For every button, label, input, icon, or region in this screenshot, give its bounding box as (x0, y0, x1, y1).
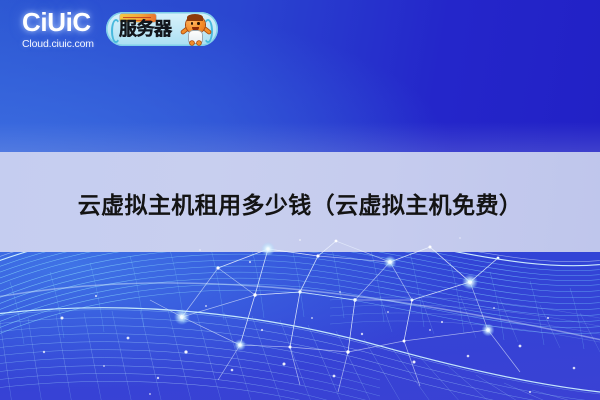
banner-image: CiUiC Cloud.ciuic.com 服务器 云虚拟主机租用多少钱（云虚拟… (0, 0, 600, 400)
wave-mesh-background (0, 252, 600, 400)
server-badge-label: 服务器 (119, 19, 172, 39)
ciuic-cloud-logo[interactable]: CiUiC Cloud.ciuic.com (22, 9, 118, 50)
title-band: 云虚拟主机租用多少钱（云虚拟主机免费） (0, 152, 600, 252)
orange-mascot-character-icon (181, 14, 211, 45)
page-title: 云虚拟主机租用多少钱（云虚拟主机免费） (78, 192, 523, 220)
logo-wordmark: CiUiC (22, 9, 118, 35)
logo-domain-text: Cloud.ciuic.com (22, 39, 118, 50)
server-badge[interactable]: 服务器 (106, 12, 218, 46)
